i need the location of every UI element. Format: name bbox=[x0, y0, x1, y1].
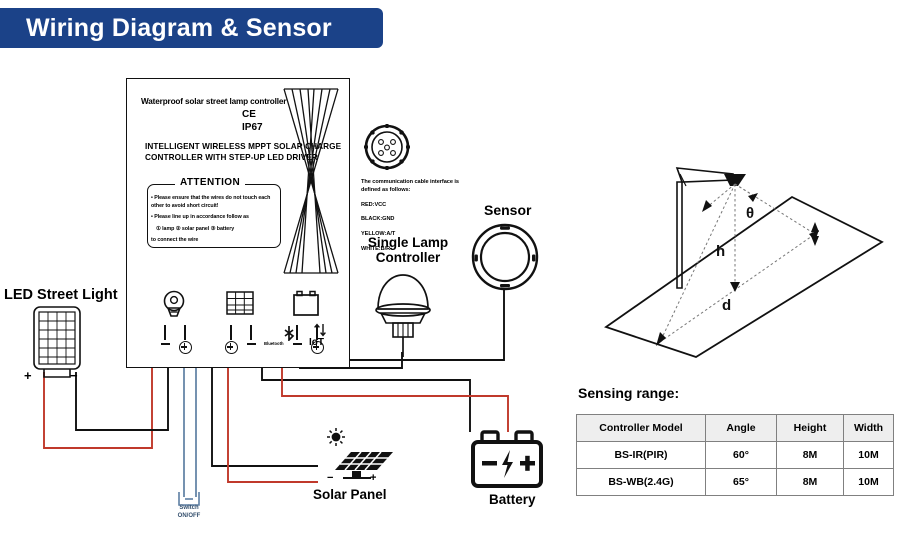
bluetooth-label: Bluetooth bbox=[264, 341, 284, 346]
cell-angle: 60° bbox=[706, 442, 777, 469]
table-row: BS-IR(PIR) 60° 8M 10M bbox=[577, 442, 894, 469]
solar-positive-label: + bbox=[370, 472, 376, 484]
lamp-positive-pin[interactable] bbox=[175, 325, 195, 357]
heatsink-pattern bbox=[282, 87, 340, 275]
table-row: BS-WB(2.4G) 65° 8M 10M bbox=[577, 469, 894, 496]
attention-title: ATTENTION bbox=[175, 177, 245, 188]
cell-height: 8M bbox=[777, 469, 844, 496]
sensing-range-title: Sensing range: bbox=[578, 385, 679, 401]
column-header-height: Height bbox=[777, 415, 844, 442]
pin-red: RED:VCC bbox=[361, 202, 469, 209]
ip-rating: IP67 bbox=[242, 122, 263, 133]
solar-terminals[interactable] bbox=[221, 325, 261, 357]
cell-model: BS-WB(2.4G) bbox=[577, 469, 706, 496]
attention-line-3: ① lamp ② solar panel ③ battery bbox=[151, 226, 277, 234]
bluetooth-icon bbox=[283, 325, 295, 341]
bulb-icon bbox=[161, 289, 187, 323]
sensing-range-table: Controller Model Angle Height Width BS-I… bbox=[576, 414, 894, 496]
solar-panel-label: Solar Panel bbox=[313, 487, 387, 502]
ce-mark: CE bbox=[242, 109, 256, 120]
switch-label: Switch ON/OFF bbox=[167, 505, 211, 520]
lamp-negative-pin[interactable] bbox=[155, 325, 175, 352]
sensor-icon bbox=[470, 222, 540, 292]
led-negative-label: − bbox=[70, 368, 78, 383]
solar-positive-pin[interactable] bbox=[221, 325, 241, 357]
height-label: h bbox=[716, 243, 725, 260]
single-lamp-controller-label: Single Lamp Controller bbox=[360, 235, 456, 265]
lamp-terminals[interactable] bbox=[155, 325, 195, 357]
sensing-geometry-diagram: θ h d bbox=[596, 160, 892, 365]
attention-text: • Please ensure that the wires do not to… bbox=[151, 195, 277, 249]
single-lamp-controller-icon bbox=[364, 265, 442, 357]
battery-icon bbox=[291, 289, 321, 323]
sensor-label: Sensor bbox=[484, 202, 531, 218]
cell-width: 10M bbox=[844, 442, 894, 469]
attention-line-4: to connect the wire bbox=[151, 237, 277, 245]
solar-panel-icon bbox=[225, 289, 255, 323]
cell-height: 8M bbox=[777, 442, 844, 469]
attention-line-1: • Please ensure that the wires do not to… bbox=[151, 195, 277, 210]
column-header-angle: Angle bbox=[706, 415, 777, 442]
distance-label: d bbox=[722, 297, 731, 314]
cell-model: BS-IR(PIR) bbox=[577, 442, 706, 469]
page-title: Wiring Diagram & Sensor bbox=[0, 14, 332, 43]
terminal-block: Bluetooth IoT bbox=[139, 289, 344, 359]
page-title-banner: Wiring Diagram & Sensor bbox=[0, 8, 383, 48]
battery-diagram-icon bbox=[466, 428, 552, 490]
communication-intro: The communication cable interface is def… bbox=[361, 179, 469, 194]
solar-negative-label: − bbox=[327, 472, 333, 484]
led-street-light-label: LED Street Light bbox=[4, 287, 118, 303]
table-header-row: Controller Model Angle Height Width bbox=[577, 415, 894, 442]
iot-label: IoT bbox=[309, 337, 324, 348]
theta-label: θ bbox=[746, 205, 754, 222]
pin-black: BLACK:GND bbox=[361, 216, 469, 223]
connector-icon bbox=[361, 122, 413, 172]
cell-width: 10M bbox=[844, 469, 894, 496]
battery-label: Battery bbox=[489, 492, 536, 507]
solar-negative-pin[interactable] bbox=[241, 325, 261, 352]
cell-angle: 65° bbox=[706, 469, 777, 496]
attention-line-2: • Please line up in accordance follow as bbox=[151, 214, 277, 222]
led-positive-label: + bbox=[24, 368, 32, 383]
updown-arrow-icon bbox=[313, 323, 327, 337]
column-header-width: Width bbox=[844, 415, 894, 442]
column-header-model: Controller Model bbox=[577, 415, 706, 442]
solar-charge-controller: Waterproof solar street lamp controller … bbox=[126, 78, 350, 368]
solar-panel-diagram-icon bbox=[313, 428, 397, 488]
